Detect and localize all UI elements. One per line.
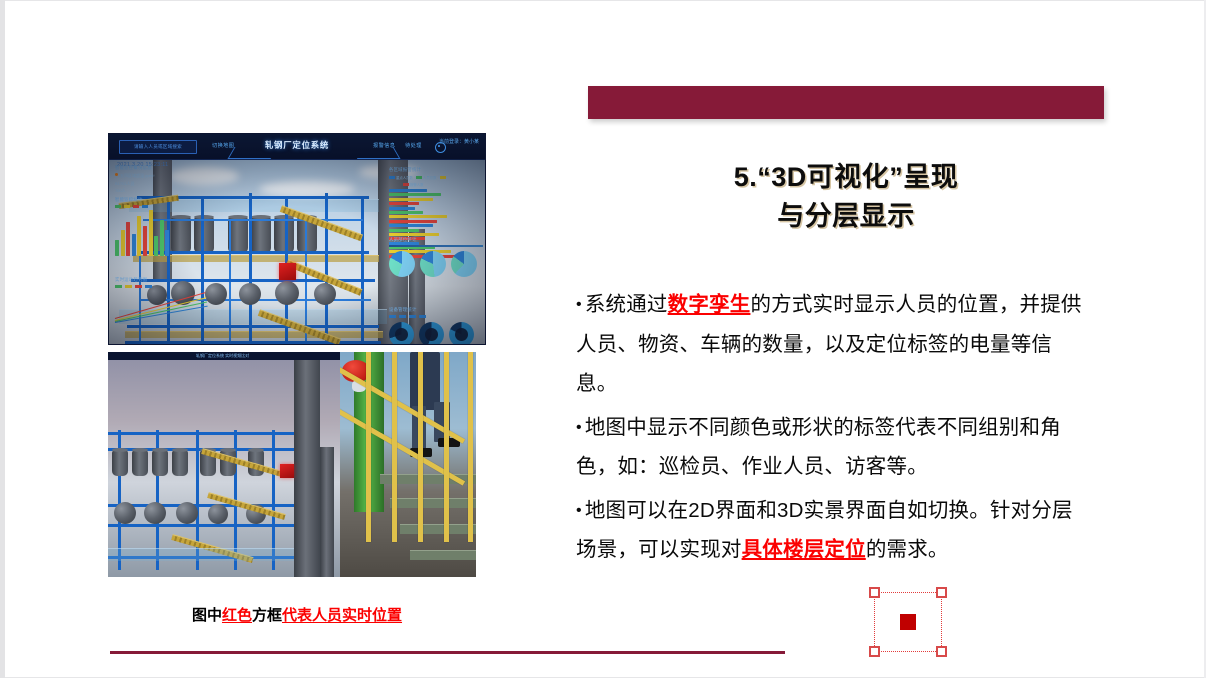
donut-panel-ticks (389, 315, 474, 318)
steel-beam (125, 341, 381, 344)
right-bar-legend-2: 报警人数 (403, 182, 459, 187)
live-camera-view (340, 352, 476, 577)
left-bar-chart-title: 智能监控统计 (115, 197, 169, 203)
spherical-vessel (205, 283, 227, 305)
tank (194, 217, 214, 253)
3d-scene: 智能监控统计 (109, 159, 485, 345)
tank (112, 450, 128, 476)
structure-column (294, 352, 320, 577)
alarm-panel-title: 智能监控概况信息 (115, 165, 155, 171)
video-view-topbar: 轧钢厂定位系统 实时视频比对 (108, 352, 340, 360)
handrail-post (392, 352, 397, 542)
dashboard-brand-title: 轧钢厂定位系统 (265, 139, 329, 151)
spherical-vessel (176, 502, 198, 524)
left-line-chart (115, 288, 207, 322)
caption-part-2: 红色 (222, 607, 252, 624)
resize-handle-bottom-left[interactable] (869, 646, 880, 657)
current-user-label: 当前登录：黄小某 (439, 138, 479, 145)
tank (152, 450, 168, 476)
cloud (259, 181, 355, 197)
dashboard-header: 请输入人员或区域搜索 切换地图 轧钢厂定位系统 报警信息 待处理 当前登录：黄小… (109, 134, 485, 160)
steel-beam (127, 325, 379, 328)
nav-pending[interactable]: 待处理 (405, 142, 422, 149)
walkway-deck (125, 331, 383, 338)
page-title-line-2: 与分层显示 (596, 197, 1096, 236)
spherical-vessel (239, 283, 261, 305)
legend-label: 报警人数 (410, 182, 424, 187)
donut-chart (389, 322, 414, 345)
steel-beam (108, 432, 294, 435)
stair-step (400, 524, 476, 534)
bullet-item-3: •地图可以在2D界面和3D实景界面自如切换。针对分层场景，可以实现对具体楼层定位… (576, 491, 1092, 570)
selected-shape-group[interactable] (874, 592, 942, 652)
bottom-divider-rule (110, 651, 785, 654)
resize-handle-top-left[interactable] (869, 587, 880, 598)
tank (132, 450, 148, 476)
alarm-dot-icon (115, 173, 118, 176)
bullet-marker: • (576, 419, 582, 436)
bullet-list: •系统通过数字孪生的方式实时显示人员的位置，并提供人员、物资、车辆的数量，以及定… (576, 285, 1092, 574)
handrail-post (468, 352, 473, 542)
left-bar-chart (115, 210, 169, 256)
page-left-edge (0, 0, 5, 678)
nav-alarm-info[interactable]: 报警信息 (373, 142, 395, 149)
alarm-sub-1: B1701人员 (115, 181, 155, 187)
page-top-edge (5, 0, 1204, 1)
handrail-post (444, 352, 449, 542)
legend-label: 人员总数 (423, 175, 437, 180)
spherical-vessel (314, 283, 336, 305)
tank (274, 217, 294, 253)
image-caption: 图中红色方框代表人员实时位置 (108, 604, 486, 625)
steel-beam (325, 193, 328, 345)
handrail-post (366, 352, 371, 542)
steel-beam (249, 193, 252, 345)
right-pie-chart-title: 人员部位统计 (389, 237, 483, 243)
spherical-vessel (208, 504, 228, 524)
donut-chart (449, 322, 474, 345)
pie-panel-ruler (389, 245, 483, 247)
bullet-1-highlight: 数字孪生 (668, 293, 751, 316)
digital-twin-view (108, 352, 340, 577)
red-square-shape[interactable] (900, 614, 916, 630)
structure-column (320, 447, 334, 577)
pie-chart (420, 251, 446, 277)
steel-beam (108, 524, 294, 527)
caption-part-4: 代表人员实时位置 (282, 607, 402, 624)
caption-part-1: 图中 (192, 607, 222, 624)
bullet-2-seg-1: 地图中显示不同颜色或形状的标签代表不同组别和角色，如：巡检员、作业人员、访客等。 (576, 416, 1061, 479)
right-bar-legend: 重点人员数 人员总数 (389, 175, 459, 180)
pie-chart (451, 251, 477, 277)
tank (228, 217, 248, 253)
alarm-sub-3: 700人 (115, 188, 155, 194)
spherical-vessel (144, 502, 166, 524)
right-bar-chart-title: 各区域报警统计 (389, 167, 459, 173)
nav-switch-map[interactable]: 切换地图 (212, 142, 234, 149)
donut-chart (419, 322, 444, 345)
video-comparison-screenshot[interactable]: 轧钢厂定位系统 实时视频比对 (108, 352, 476, 577)
right-donut-chart-title: 设备管理统计 (389, 307, 474, 313)
tank (251, 217, 271, 253)
tank (171, 217, 191, 253)
dashboard-screenshot[interactable]: 智能监控统计 (108, 133, 486, 345)
video-view-title: 轧钢厂定位系统 实时视频比对 (196, 353, 249, 359)
steel-beam (108, 504, 294, 507)
bullet-3-highlight: 具体楼层定位 (742, 538, 866, 561)
legend-label: 重点人员数 (396, 175, 413, 180)
bullet-item-1: •系统通过数字孪生的方式实时显示人员的位置，并提供人员、物资、车辆的数量，以及定… (576, 285, 1092, 404)
bullet-marker: • (576, 296, 582, 313)
page-title-line-1: 5.“3D可视化”呈现 (596, 158, 1096, 197)
red-location-marker (279, 263, 296, 280)
spherical-vessel (275, 281, 299, 305)
bullet-3-seg-3: 的需求。 (866, 538, 949, 561)
handrail-post (418, 352, 423, 542)
title-banner (588, 86, 1104, 119)
glass-deck (108, 548, 294, 561)
left-line-chart-title: 实时运动趋势图 (115, 277, 207, 283)
spherical-vessel (114, 502, 136, 524)
bullet-marker: • (576, 502, 582, 519)
alarm-row-text: 五四区域超温 ppm↑ (120, 173, 155, 178)
red-location-marker (280, 464, 294, 478)
alarm-row: 五四区域超温 ppm↑ (115, 173, 155, 179)
resize-handle-bottom-right[interactable] (936, 646, 947, 657)
bullet-item-2: •地图中显示不同颜色或形状的标签代表不同组别和角色，如：巡检员、作业人员、访客等… (576, 408, 1092, 487)
slide-canvas: 智能监控统计 (0, 0, 1206, 678)
stair-step (390, 498, 476, 508)
steel-beam (137, 251, 369, 254)
cloud (169, 167, 239, 185)
stair-step (410, 550, 476, 560)
left-bar-legend (115, 205, 169, 208)
caption-part-3: 方框 (252, 607, 282, 624)
tank (172, 450, 188, 476)
page-title: 5.“3D可视化”呈现 与分层显示 (596, 158, 1096, 236)
right-pie-charts (389, 251, 483, 277)
search-input[interactable]: 请输入人员或区域搜索 (119, 140, 197, 154)
resize-handle-top-right[interactable] (936, 587, 947, 598)
pie-chart (389, 251, 415, 277)
right-donut-charts (389, 322, 474, 345)
steel-beam (143, 219, 363, 221)
bullet-1-seg-1: 系统通过 (585, 293, 668, 316)
